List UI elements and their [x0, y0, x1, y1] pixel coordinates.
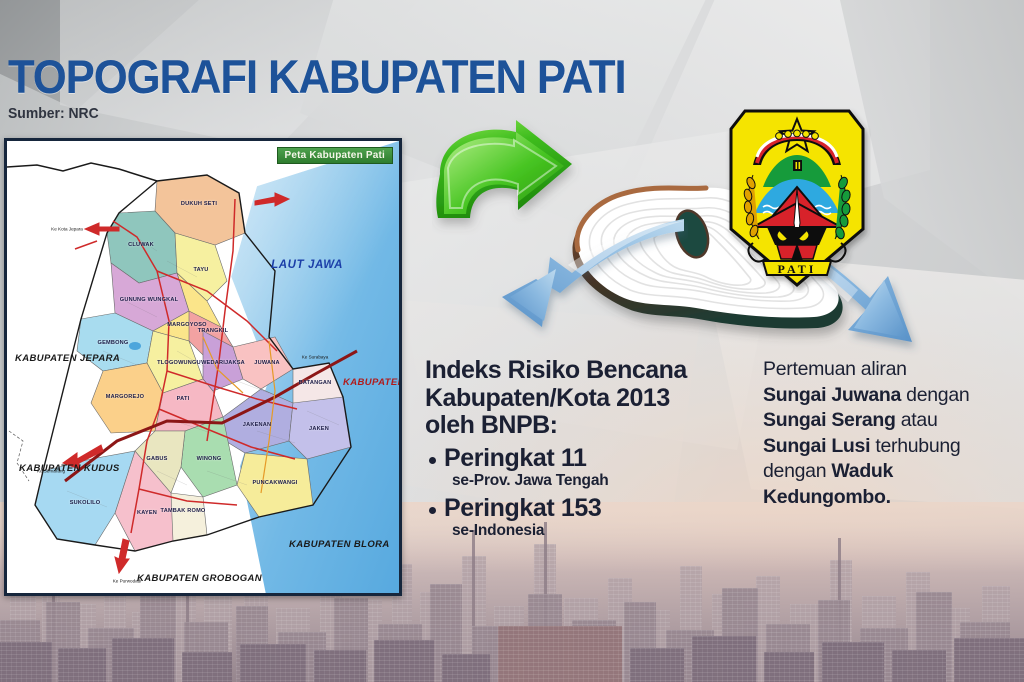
district-label: WINONG — [197, 456, 222, 462]
rivers-line-4: Sungai Lusi terhubung — [763, 434, 1018, 460]
rivers-conn-1: dengan — [901, 384, 969, 406]
district-label: CLUWAK — [128, 242, 154, 248]
district-label: SUKOLILO — [70, 500, 101, 506]
rivers-conn-4: dengan — [763, 460, 831, 482]
reservoir-kedungombo: Kedungombo. — [763, 486, 891, 508]
map-panel[interactable]: Peta Kabupaten Pati LAUT JAWA KABUPATEN … — [4, 138, 402, 596]
district-label: WEDARIJAKSA — [201, 360, 245, 366]
road-note: Ke Purwodadi — [113, 579, 142, 584]
district-label: JAKENAN — [243, 422, 271, 428]
title-block: TOPOGRAFI KABUPATEN PATI Sumber: NRC — [8, 52, 672, 122]
district-label: GUNUNG WUNGKAL — [120, 297, 178, 303]
rivers-intro: Pertemuan aliran — [763, 358, 907, 380]
rivers-line-5: dengan Waduk — [763, 459, 1018, 485]
neighbor-label-blora: KABUPATEN BLORA — [289, 539, 390, 550]
rank-item: Peringkat 11 — [425, 444, 735, 472]
river-lusi: Sungai Lusi — [763, 435, 870, 457]
rank-item: Peringkat 153 — [425, 494, 735, 522]
river-juwana: Sungai Juwana — [763, 384, 901, 406]
sea-label-laut-jawa: LAUT JAWA — [271, 259, 343, 271]
emblem-banner-text: PATI — [778, 262, 817, 276]
river-serang: Sungai Serang — [763, 409, 896, 431]
rivers-conn-2: atau — [896, 409, 938, 431]
district-label: GABUS — [146, 456, 167, 462]
rank-scope: se-Prov. Jawa Tengah — [452, 472, 735, 490]
neighbor-label-rembang: KABUPATEN REMBANG — [343, 377, 402, 388]
road-note: Ke Semarang — [37, 469, 65, 474]
bullet-dot-icon — [429, 457, 436, 464]
road-note: Ke Kota Jepara — [51, 227, 83, 232]
risk-heading-line2: Kabupaten/Kota 2013 — [425, 385, 735, 413]
district-label: MARGOREJO — [106, 394, 144, 400]
rivers-line-2: Sungai Juwana dengan — [763, 383, 1018, 409]
map-panel-title: Peta Kabupaten Pati — [277, 147, 394, 164]
road-note: Ke Surabaya — [302, 355, 329, 360]
risk-heading-line3: oleh BNPB: — [425, 412, 735, 440]
rivers-line-6: Kedungombo. — [763, 485, 1018, 511]
district-label: TAMBAK ROMO — [161, 508, 206, 514]
pati-coat-of-arms: PATI — [723, 103, 871, 293]
rank-value: Peringkat 153 — [444, 494, 601, 522]
district-label: TAYU — [193, 267, 208, 273]
blue-arrow-left-icon — [498, 215, 688, 345]
district-label: JAKEN — [309, 426, 329, 432]
reservoir-waduk: Waduk — [831, 460, 893, 482]
kabupaten-pati-districts — [7, 141, 402, 596]
district-label: GEMBONG — [98, 340, 129, 346]
district-label: JUWANA — [254, 360, 279, 366]
district-label: DUKUH SETI — [181, 201, 217, 207]
district-label: KAYEN — [137, 510, 157, 516]
rivers-conn-3: terhubung — [870, 435, 960, 457]
risk-index-panel: Indeks Risiko Bencana Kabupaten/Kota 201… — [425, 357, 735, 540]
infographic-canvas: TOPOGRAFI KABUPATEN PATI Sumber: NRC — [0, 0, 1024, 682]
district-label: TLOGOWUNGU — [157, 360, 201, 366]
rivers-panel: Pertemuan aliran Sungai Juwana dengan Su… — [763, 357, 1018, 510]
rank-value: Peringkat 11 — [444, 444, 587, 472]
district-label: TRANGKIL — [198, 328, 229, 334]
district-label: PATI — [177, 396, 190, 402]
rivers-line-1: Pertemuan aliran — [763, 357, 1018, 383]
rank-scope: se-Indonesia — [452, 522, 735, 540]
page-title: TOPOGRAFI KABUPATEN PATI — [8, 52, 626, 102]
neighbor-label-jepara: KABUPATEN JEPARA — [15, 353, 120, 364]
district-label: BATANGAN — [299, 380, 332, 386]
bullet-dot-icon — [429, 507, 436, 514]
neighbor-label-grobogan: KABUPATEN GROBOGAN — [137, 573, 262, 584]
rivers-line-3: Sungai Serang atau — [763, 408, 1018, 434]
neighbor-label-kudus: KABUPATEN KUDUS — [19, 463, 120, 474]
district-label: PUNCAKWANGI — [252, 480, 297, 486]
risk-heading-line1: Indeks Risiko Bencana — [425, 357, 735, 385]
